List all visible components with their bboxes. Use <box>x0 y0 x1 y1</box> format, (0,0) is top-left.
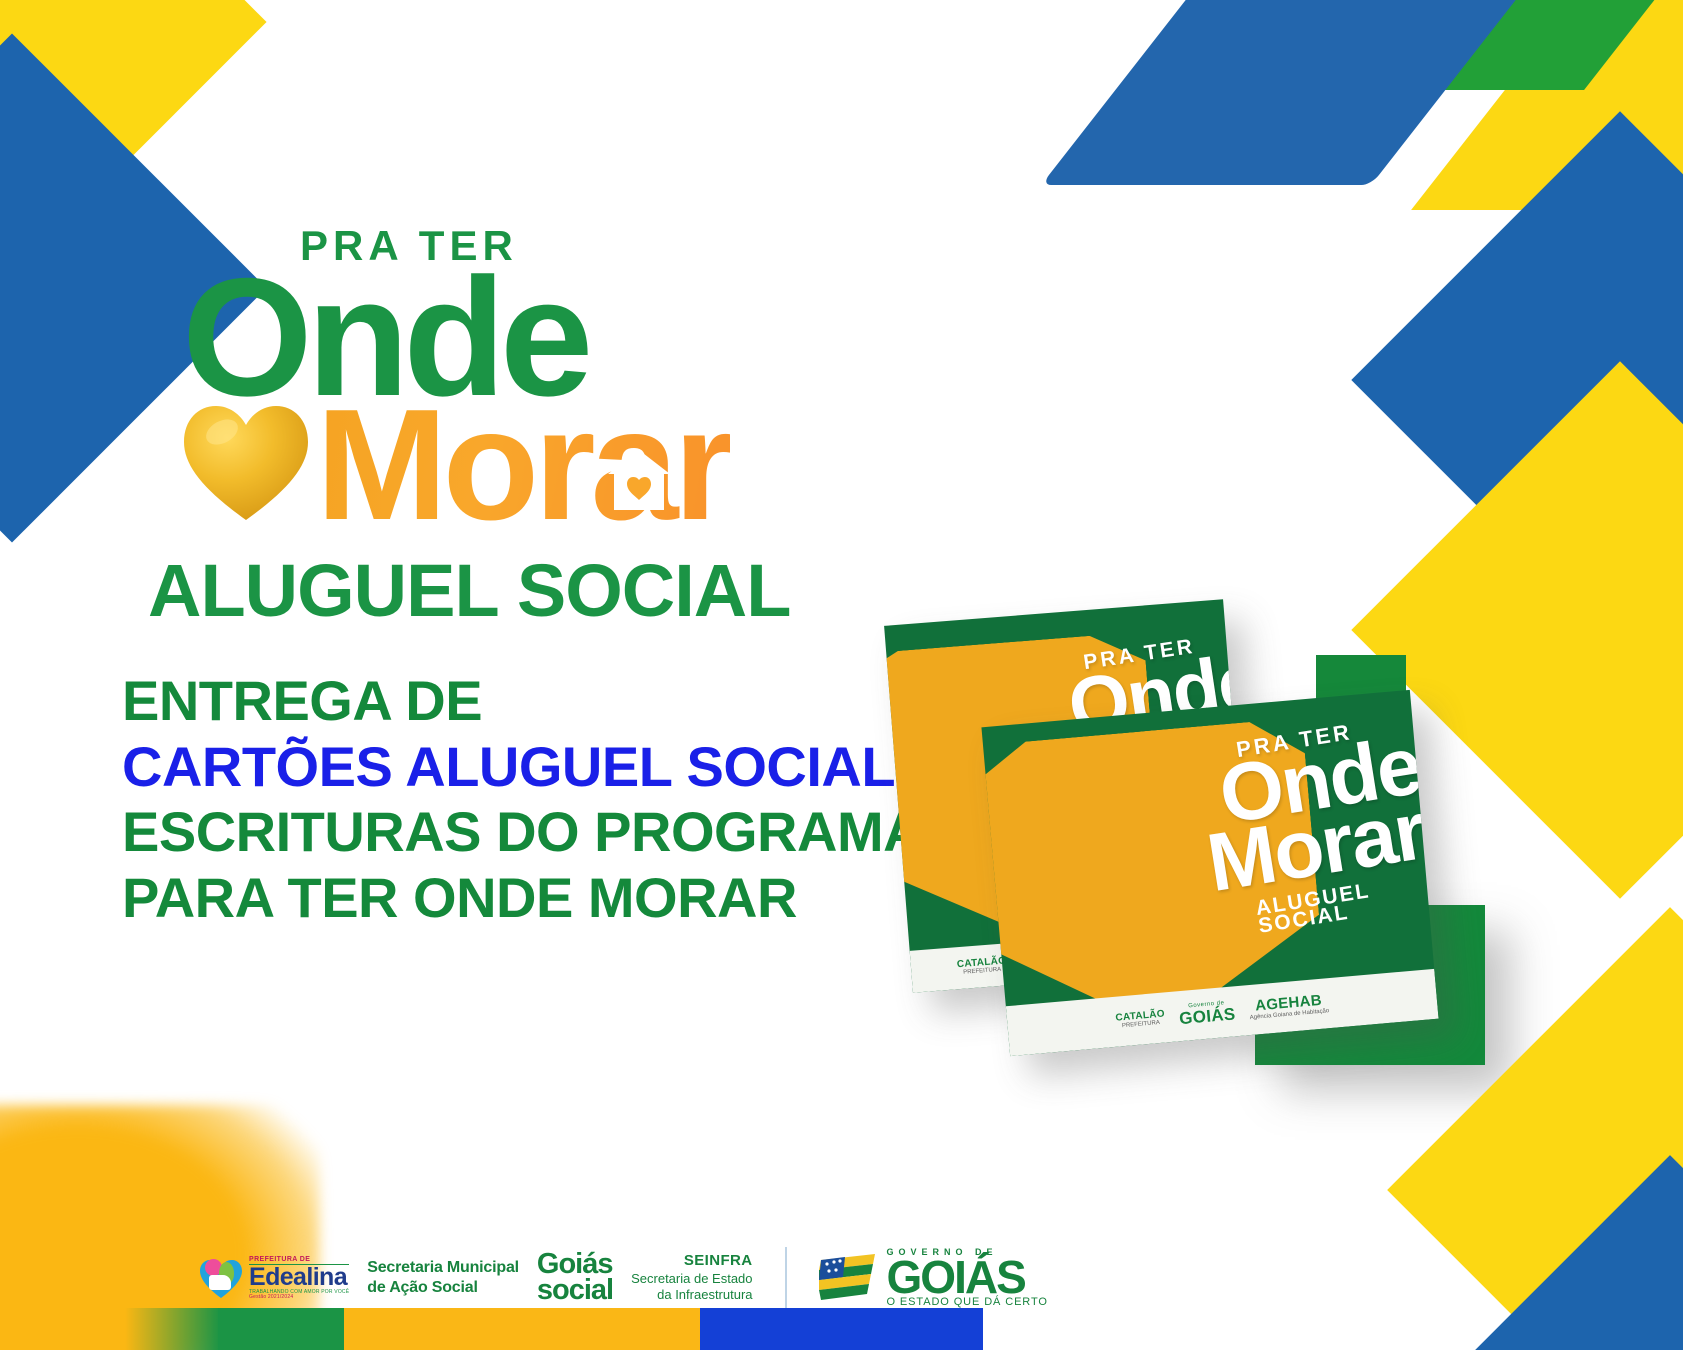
goias-flag-icon <box>819 1252 881 1304</box>
edealina-sub2: Gestão 2021/2024 <box>249 1295 349 1300</box>
card-front-logo-goias-label: GOIÁS <box>1179 1005 1237 1029</box>
secretaria-municipal-line-1: Secretaria Municipal <box>367 1258 519 1278</box>
logo-prefeitura-edealina: PREFEITURA DE Edealina TRABALHANDO COM A… <box>200 1256 349 1300</box>
headline-line-2: CARTÕES ALUGUEL SOCIAL E <box>122 734 946 800</box>
logo-governo-de-goias: GOVERNO DE GOIÁS O ESTADO QUE DÁ CERTO <box>819 1248 1048 1308</box>
card-front: PRA TER Onde Morar ALUGUEL SOCIAL CATALÃ… <box>981 690 1438 1056</box>
logo-seinfra: SEINFRA Secretaria de Estado da Infraest… <box>631 1252 752 1303</box>
heart-icon <box>182 398 310 526</box>
seinfra-line-1: Secretaria de Estado <box>631 1271 752 1287</box>
card-back-logo-catalao: CATALÃO PREFEITURA <box>957 956 1008 977</box>
strip-green-fade <box>125 1308 220 1350</box>
governo-main-label: GOIÁS <box>887 1257 1048 1297</box>
logo-morar-row: Morar <box>150 390 910 530</box>
headline-line-2-highlight: CARTÕES ALUGUEL SOCIAL <box>122 735 894 798</box>
secretaria-municipal-line-2: de Ação Social <box>367 1278 519 1298</box>
strip-blue <box>700 1308 983 1350</box>
edealina-wordmark: PREFEITURA DE Edealina TRABALHANDO COM A… <box>249 1256 349 1300</box>
card-mockup-group: PRA TER Onde Morar CATALÃO PREFEITURA PR… <box>890 600 1450 1060</box>
card-front-logo-goias: Governo de GOIÁS <box>1178 999 1236 1028</box>
governo-goias-wordmark: GOVERNO DE GOIÁS O ESTADO QUE DÁ CERTO <box>887 1248 1048 1308</box>
poster-canvas: PRA TER Onde Morar ALUGUEL SOCI <box>0 0 1683 1350</box>
card-front-logo-agehab: AGEHAB Agência Goiana de Habitação <box>1248 992 1329 1021</box>
edealina-white-hand <box>209 1275 231 1290</box>
program-subtitle: ALUGUEL SOCIAL <box>148 548 790 633</box>
strip-yellow <box>344 1308 700 1350</box>
headline-line-1: ENTREGA DE <box>122 668 946 734</box>
edealina-name: Edealina <box>249 1265 349 1290</box>
card-front-logo-catalao: CATALÃO PREFEITURA <box>1115 1009 1166 1030</box>
strip-green <box>218 1308 344 1350</box>
logo-secretaria-municipal: Secretaria Municipal de Ação Social <box>367 1258 519 1297</box>
seinfra-line-2: da Infraestrutura <box>631 1287 752 1303</box>
footer-divider <box>785 1247 787 1309</box>
house-heart-icon <box>602 444 676 518</box>
headline-line-4: PARA TER ONDE MORAR <box>122 865 946 931</box>
headline-block: ENTREGA DE CARTÕES ALUGUEL SOCIAL E ESCR… <box>122 668 946 930</box>
goias-social-line-2: social <box>537 1278 613 1304</box>
governo-slogan: O ESTADO QUE DÁ CERTO <box>887 1297 1048 1308</box>
edealina-heart-icon <box>200 1256 242 1300</box>
headline-line-3: ESCRITURAS DO PROGRAMA <box>122 799 946 865</box>
logo-goias-social: Goiás social <box>537 1252 613 1303</box>
seinfra-title: SEINFRA <box>631 1252 752 1271</box>
program-logo: PRA TER Onde Morar <box>150 225 910 530</box>
